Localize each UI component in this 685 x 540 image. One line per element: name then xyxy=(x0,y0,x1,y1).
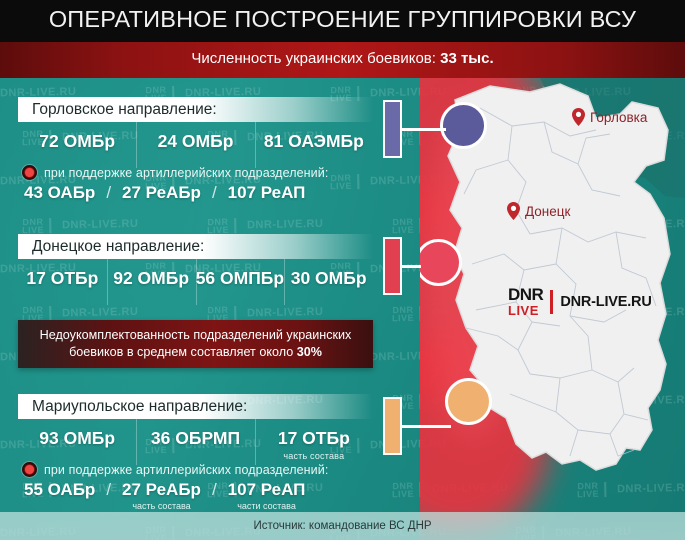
direction-connector-gorlovka xyxy=(400,128,446,131)
unit-cell: 56 ОМПБр xyxy=(196,259,285,305)
unit-name: 92 ОМБр xyxy=(113,268,189,289)
separator: / xyxy=(212,183,217,203)
logo-text-dnr: DNR xyxy=(508,286,543,303)
direction-title-bar: Донецкое направление: xyxy=(18,234,373,259)
artillery-unit-row: 43 ОАБр / 27 РеАБр / 107 РеАП xyxy=(22,183,377,204)
unit-cell: 36 ОБРМП xyxy=(136,419,254,465)
unit-cell: 17 ОТБр xyxy=(18,259,107,305)
direction-connector-mariupol xyxy=(400,425,451,428)
direction-block-donetsk: Донецкое направление: 17 ОТБр 92 ОМБр 56… xyxy=(18,234,373,305)
direction-block-mariupol: Мариупольское направление: 93 ОМБр 36 ОБ… xyxy=(18,394,373,465)
unit-name: 30 ОМБр xyxy=(291,268,367,289)
notice-line-2-prefix: боевиков в среднем составляет около xyxy=(69,345,297,359)
unit-cell: 17 ОТБр часть состава xyxy=(255,419,373,465)
watermark: DNRLIVE|DNR-LIVE.RU xyxy=(22,215,139,236)
artillery-unit-note: часть состава xyxy=(132,501,190,511)
unit-name: 36 ОБРМП xyxy=(151,428,240,449)
map-dot-gorlovka xyxy=(440,102,487,149)
footer-source-bar: Источник: командование ВС ДНР xyxy=(0,512,685,540)
artillery-header: при поддержке артиллерийских подразделен… xyxy=(22,165,377,180)
unit-row: 17 ОТБр 92 ОМБр 56 ОМПБр 30 ОМБр xyxy=(18,259,373,305)
artillery-unit-name: 107 РеАП xyxy=(228,480,306,500)
page-title: ОПЕРАТИВНОЕ ПОСТРОЕНИЕ ГРУППИРОВКИ ВСУ xyxy=(0,6,685,33)
direction-title: Горловское направление: xyxy=(18,101,217,119)
artillery-unit-row: 55 ОАБр / 27 РеАБр часть состава / 107 Р… xyxy=(22,480,377,511)
target-icon xyxy=(22,165,37,180)
notice-percentage: 30% xyxy=(297,345,322,359)
artillery-unit: 107 РеАП части состава xyxy=(228,480,306,511)
artillery-unit-name: 107 РеАП xyxy=(228,183,306,203)
unit-cell: 24 ОМБр xyxy=(136,122,254,168)
notice-text: Недоукомплектованность подразделений укр… xyxy=(26,327,366,361)
artillery-unit: 27 РеАБр часть состава xyxy=(122,480,201,511)
map-pin-label: Горловка xyxy=(590,110,647,125)
separator: / xyxy=(106,183,111,203)
dnr-live-logo: DNR LIVE DNR-LIVE.RU xyxy=(508,286,652,317)
unit-name: 81 ОАЭМБр xyxy=(264,131,364,152)
map-pin-icon xyxy=(572,108,585,126)
map-pin-icon xyxy=(507,202,520,220)
logo-divider xyxy=(550,290,553,314)
notice-line-1: Недоукомплектованность подразделений укр… xyxy=(40,328,352,342)
unit-name: 93 ОМБр xyxy=(39,428,115,449)
target-icon xyxy=(22,462,37,477)
artillery-support-gorlovka: при поддержке артиллерийских подразделен… xyxy=(22,165,377,204)
artillery-support-mariupol: при поддержке артиллерийских подразделен… xyxy=(22,462,377,511)
map-pin-label: Донецк xyxy=(525,204,570,219)
direction-title-bar: Мариупольское направление: xyxy=(18,394,373,419)
artillery-unit: 55 ОАБр xyxy=(24,480,95,501)
dnr-live-logo-mark: DNR LIVE xyxy=(508,286,543,317)
artillery-unit-name: 43 ОАБр xyxy=(24,183,95,203)
header-subtitle-text: Численность украинских боевиков: xyxy=(191,50,436,67)
unit-cell: 30 ОМБр xyxy=(284,259,373,305)
unit-row: 93 ОМБр 36 ОБРМП 17 ОТБр часть состава xyxy=(18,419,373,465)
unit-cell: 93 ОМБр xyxy=(18,419,136,465)
watermark: DNRLIVE|DNR-LIVE.RU xyxy=(207,215,324,236)
separator: / xyxy=(106,480,111,500)
footer-source-text: Источник: командование ВС ДНР xyxy=(253,520,431,532)
separator: / xyxy=(212,480,217,500)
header-subtitle-value: 33 тыс. xyxy=(440,50,494,67)
unit-name: 17 ОТБр xyxy=(26,268,98,289)
artillery-unit: 27 РеАБр xyxy=(122,183,201,204)
unit-name: 24 ОМБр xyxy=(158,131,234,152)
unit-row: 72 ОМБр 24 ОМБр 81 ОАЭМБр xyxy=(18,122,373,168)
artillery-unit-name: 27 РеАБр xyxy=(122,480,201,500)
direction-title: Мариупольское направление: xyxy=(18,398,247,416)
unit-name: 56 ОМПБр xyxy=(196,268,284,289)
logo-text-live: LIVE xyxy=(508,304,543,317)
unit-cell: 72 ОМБр xyxy=(18,122,136,168)
header-subtitle: Численность украинских боевиков: 33 тыс. xyxy=(0,50,685,67)
direction-title: Донецкое направление: xyxy=(18,238,204,256)
map-panel: Горловка Донецк DNR LIVE DNR-LIVE.RU xyxy=(420,78,685,540)
unit-name: 72 ОМБр xyxy=(39,131,115,152)
unit-note: часть состава xyxy=(283,451,344,461)
artillery-unit-name: 55 ОАБр xyxy=(24,480,95,500)
direction-block-gorlovka: Горловское направление: 72 ОМБр 24 ОМБр … xyxy=(18,97,373,168)
map-pin-donetsk: Донецк xyxy=(507,202,570,220)
unit-cell: 81 ОАЭМБр xyxy=(255,122,373,168)
artillery-header: при поддержке артиллерийских подразделен… xyxy=(22,462,377,477)
infographic-root: DNRLIVE|DNR-LIVE.RUDNRLIVE|DNR-LIVE.RUDN… xyxy=(0,0,685,540)
artillery-label: при поддержке артиллерийских подразделен… xyxy=(44,166,328,180)
artillery-unit-name: 27 РеАБр xyxy=(122,183,201,203)
logo-url: DNR-LIVE.RU xyxy=(560,294,651,310)
direction-connector-donetsk xyxy=(400,265,421,268)
unit-name: 17 ОТБр xyxy=(278,428,350,449)
understaffing-notice: Недоукомплектованность подразделений укр… xyxy=(18,320,373,368)
artillery-label: при поддержке артиллерийских подразделен… xyxy=(44,463,328,477)
artillery-unit-note: части состава xyxy=(237,501,296,511)
unit-cell: 92 ОМБр xyxy=(107,259,196,305)
direction-title-bar: Горловское направление: xyxy=(18,97,373,122)
map-pin-gorlovka: Горловка xyxy=(572,108,647,126)
artillery-unit: 107 РеАП xyxy=(228,183,306,204)
artillery-unit: 43 ОАБр xyxy=(24,183,95,204)
map-dot-mariupol xyxy=(445,378,492,425)
